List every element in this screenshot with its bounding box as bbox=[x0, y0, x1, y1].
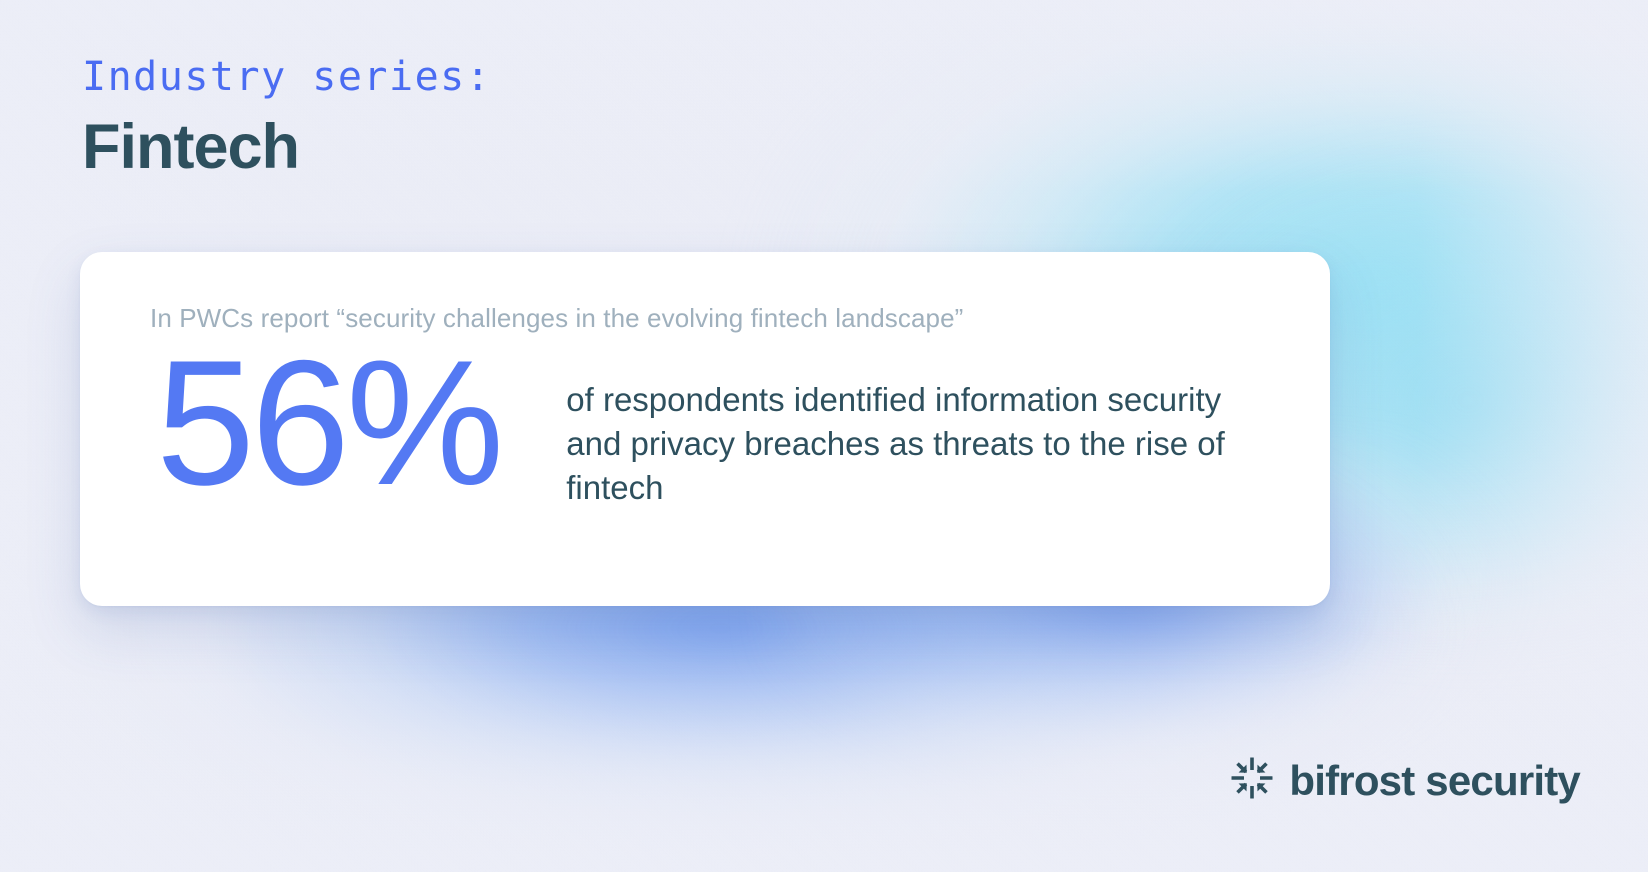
brand-logo: bifrost security bbox=[1229, 755, 1580, 806]
brand-name-label: bifrost security bbox=[1289, 760, 1580, 802]
headline-block: Industry series: Fintech bbox=[82, 52, 491, 184]
page-title: Fintech bbox=[82, 110, 491, 184]
stat-description-text: of respondents identified information se… bbox=[566, 378, 1274, 510]
bifrost-starburst-icon bbox=[1229, 755, 1275, 806]
series-eyebrow-label: Industry series: bbox=[82, 52, 491, 102]
slide-content: Industry series: Fintech In PWCs report … bbox=[0, 0, 1648, 872]
stat-percentage-value: 56% bbox=[156, 334, 500, 512]
stat-card: In PWCs report “security challenges in t… bbox=[80, 252, 1330, 606]
stat-row: 56% of respondents identified informatio… bbox=[150, 348, 1274, 512]
